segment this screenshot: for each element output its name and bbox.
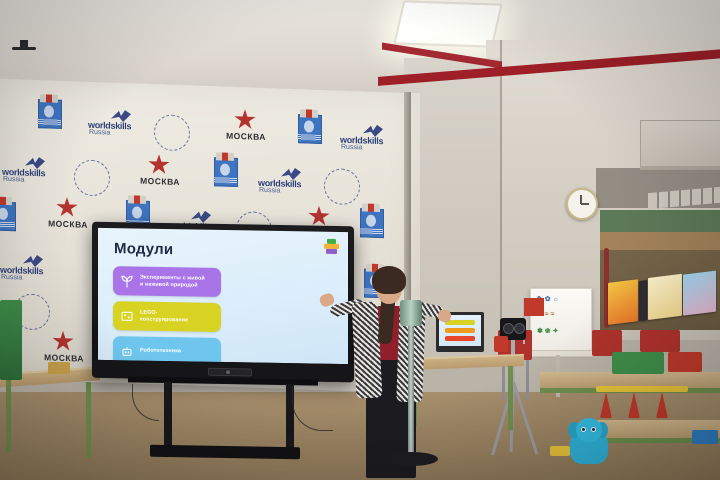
module-card-lego[interactable]: LEGO- конструирование [113,301,221,332]
display-screen[interactable]: Модули Эксперименты с живой и неживой пр… [98,228,348,364]
education-emblem-icon [36,94,62,129]
presenter [332,258,450,480]
green-board [0,300,22,380]
seal-icon [324,168,360,205]
wall-corner [500,40,502,340]
worldskills-logo-icon: worldskills Russia [340,125,400,153]
bookshelf-wood-panel [600,232,720,250]
table-leg [508,366,513,430]
photo-scene: worldskills Russia МОСКВА worldskills Ru… [0,0,720,480]
red-toy-box [668,352,702,372]
robot-icon [119,343,134,358]
moscow-star-icon: МОСКВА [132,153,188,189]
red-flag [524,298,544,316]
monitor-stand [20,40,28,47]
slide-title: Модули [114,240,336,261]
module-card-experiments[interactable]: Эксперименты с живой и неживой природой [113,266,221,297]
mic-stand-pole [408,318,414,458]
moscow-star-icon: МОСКВА [36,330,92,366]
table-leg [86,382,91,458]
green-toy-board [612,352,664,374]
module-card-label: Эксперименты с живой и неживой природой [140,274,205,289]
worldskills-logo-icon: worldskills Russia [2,157,62,185]
table-object [48,362,70,374]
plant-icon [119,273,134,288]
education-emblem-icon [0,196,16,231]
table-leg [6,380,11,452]
worldskills-logo-icon: worldskills Russia [88,110,148,138]
worldskills-logo-icon: worldskills Russia [0,255,60,283]
flipchart-tray [528,350,594,357]
mic-stand-base [384,452,438,466]
cupboard-shelf-line [640,166,720,169]
interactive-display[interactable]: Модули Эксперименты с живой и неживой пр… [92,222,354,383]
presenter-hair [372,266,406,294]
blue-block-toy [692,430,718,444]
red-toolbox [640,330,680,352]
blue-elephant-toy [566,416,610,466]
seal-icon [74,159,110,196]
rainbow-logo-icon [324,239,339,254]
education-emblem-icon [296,109,322,144]
presenter-jacket-left [352,301,383,398]
moscow-star-icon: МОСКВА [40,196,96,232]
monitor-foot [12,47,36,50]
desk-toy [494,336,508,352]
moscow-star-icon: МОСКВА [218,108,274,144]
wall-clock [566,188,598,220]
presentation-slide: Модули Эксперименты с живой и неживой пр… [98,228,348,364]
education-emblem-icon [212,152,238,187]
module-card-list: Эксперименты с живой и неживой природой … [110,266,336,364]
wall-cupboard [640,120,720,170]
module-card-label: Робототехника [140,348,181,356]
seal-icon [154,114,190,151]
mic-stand-head [400,300,422,326]
chair-leg [526,360,529,400]
bookshelf-green-panel [600,210,720,232]
education-emblem-icon [358,203,384,238]
yellow-beam-toy [596,386,688,392]
module-card-label: LEGO- конструирование [140,309,188,324]
lego-brick-icon [119,308,134,323]
worldskills-logo-icon: worldskills Russia [258,168,318,196]
display-camera-bar [208,368,252,377]
